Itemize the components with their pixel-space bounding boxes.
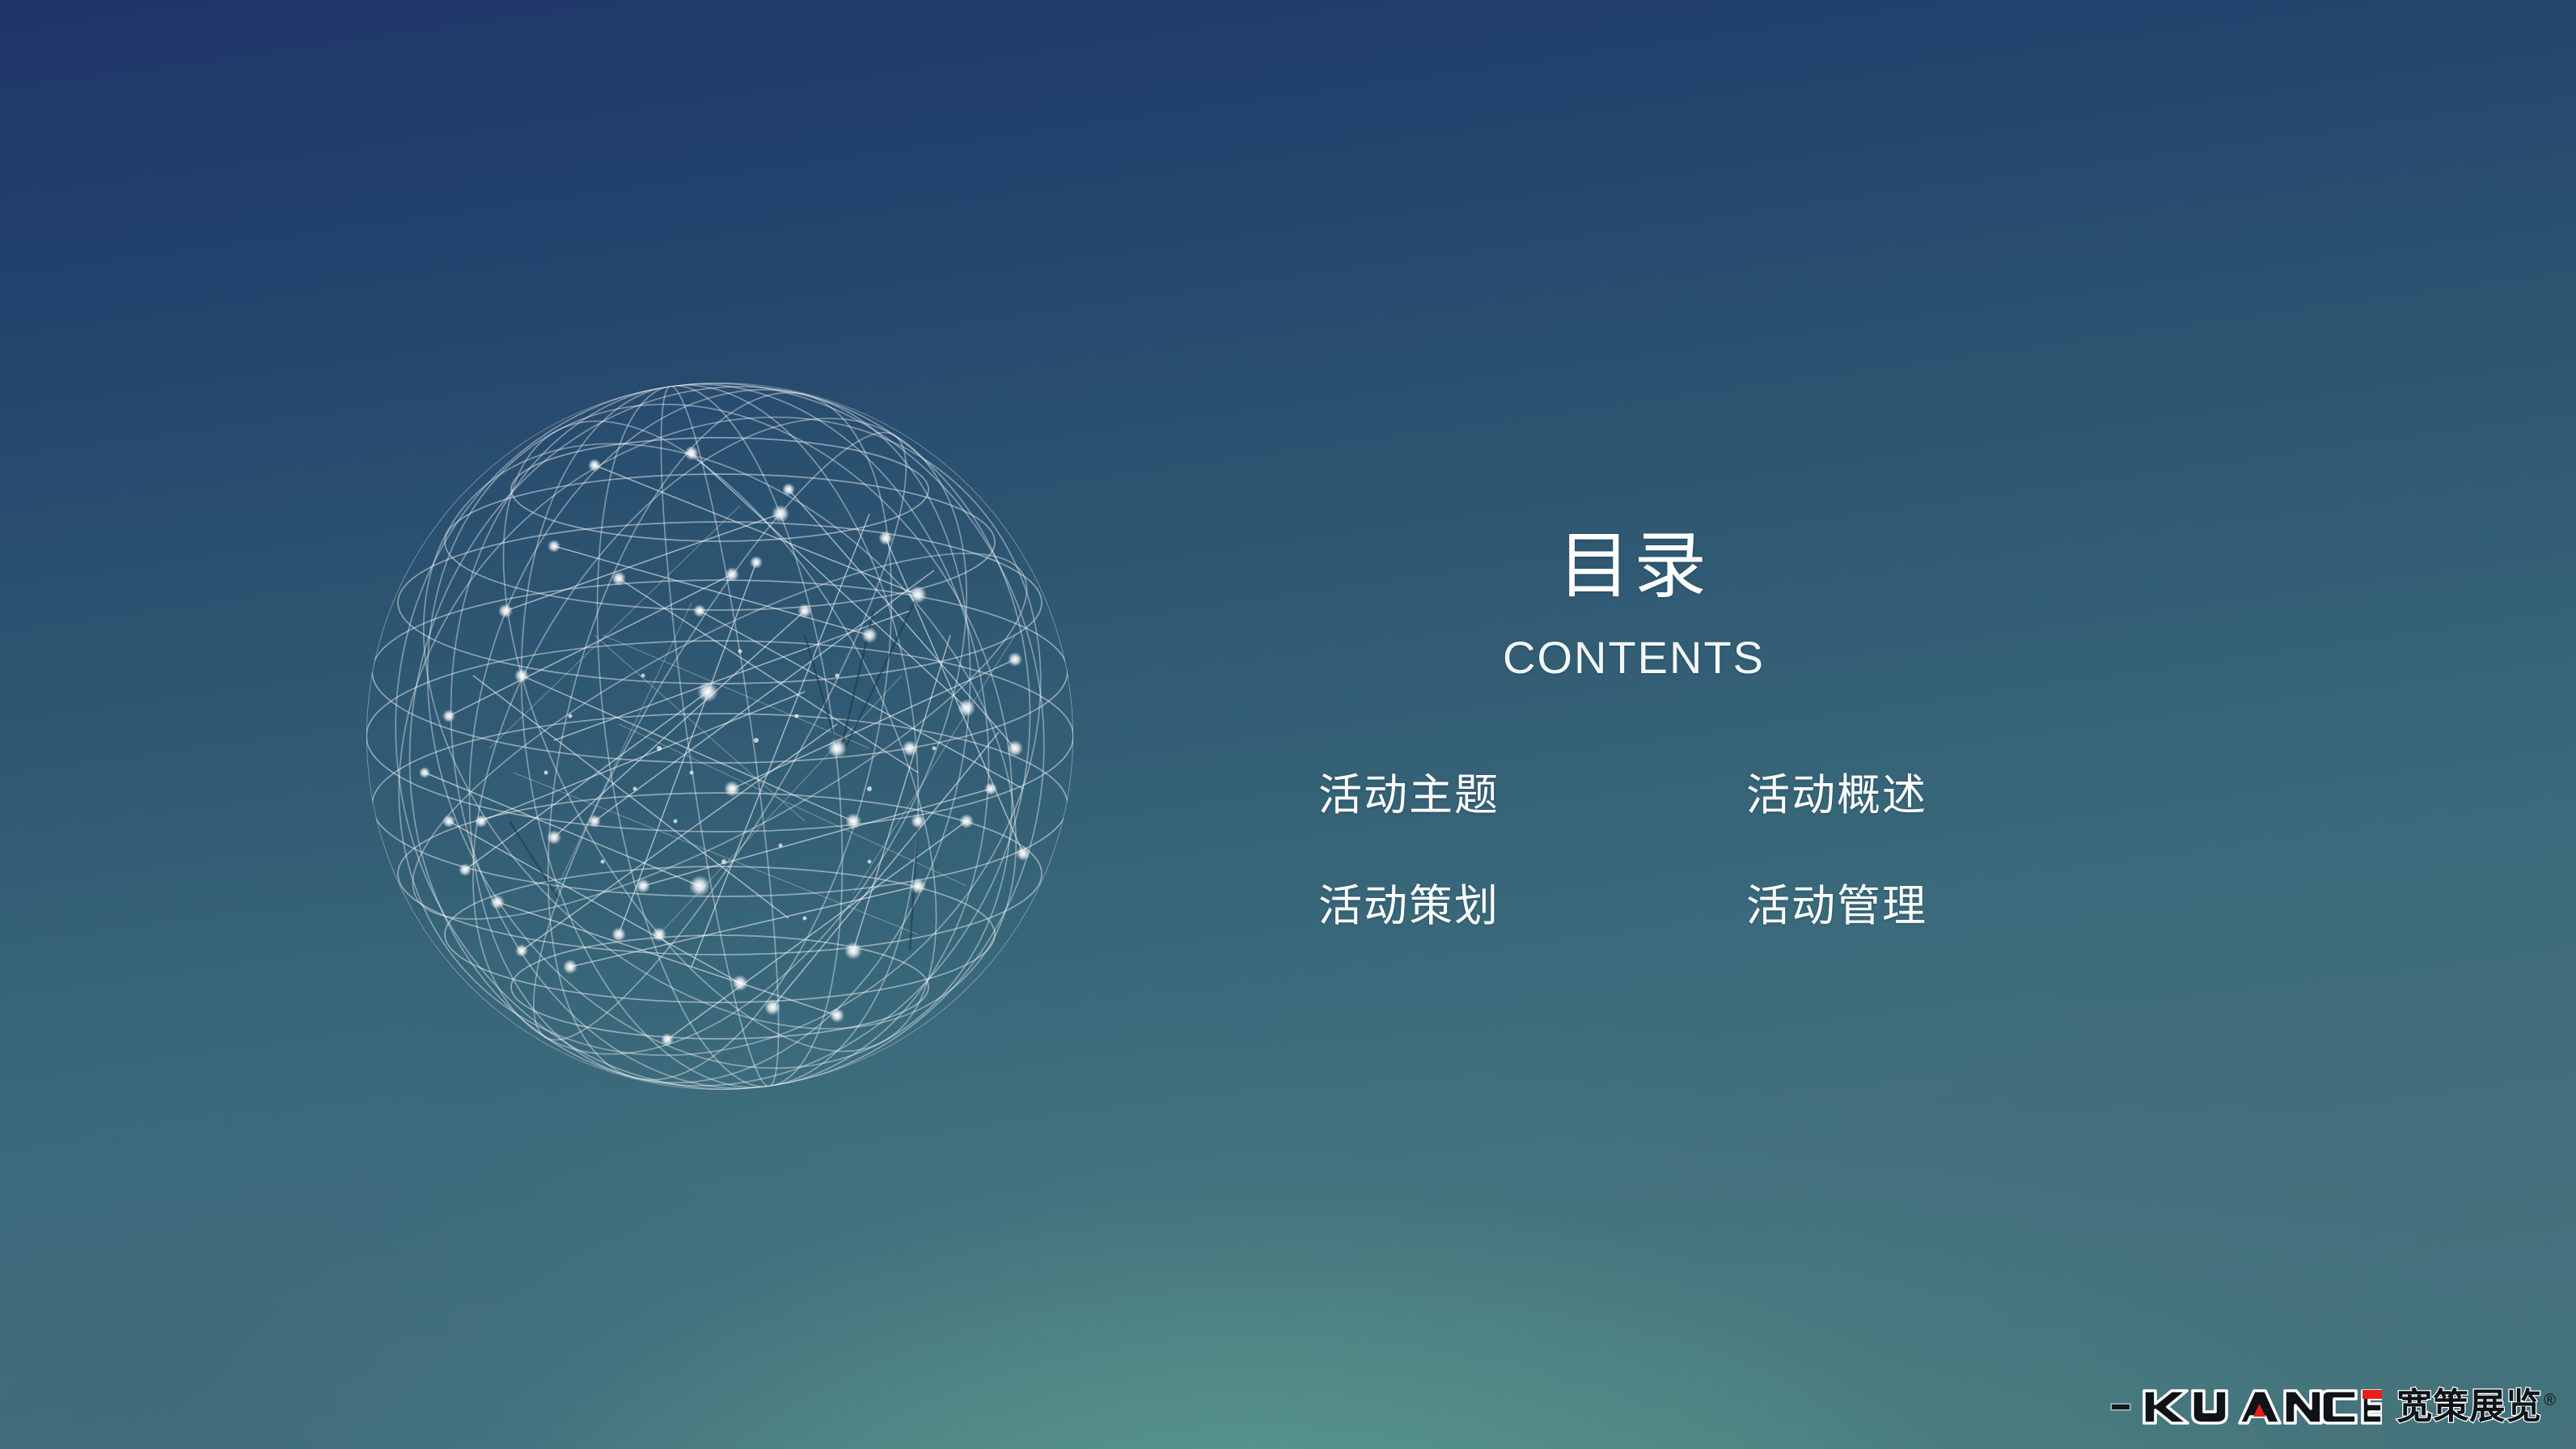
registered-trademark-icon: ® xyxy=(2544,1392,2557,1409)
page-subtitle: CONTENTS xyxy=(1262,635,2006,680)
toc-row: 活动主题 活动概述 xyxy=(1262,773,2006,819)
toc-item-activity-management[interactable]: 活动管理 xyxy=(1746,883,1927,930)
toc-row: 活动策划 活动管理 xyxy=(1262,883,2006,930)
toc-item-activity-overview[interactable]: 活动概述 xyxy=(1746,773,1927,819)
page-title: 目录 xyxy=(1262,530,2006,603)
logo-dash-icon xyxy=(2112,1405,2130,1409)
brand-logo: 宽策展览® xyxy=(2112,1381,2557,1433)
toc-item-activity-planning[interactable]: 活动策划 xyxy=(1318,883,1530,930)
slide-canvas: 目录 CONTENTS 活动主题 活动概述 活动策划 活动管理 xyxy=(0,0,2576,1449)
toc-item-grid: 活动主题 活动概述 活动策划 活动管理 xyxy=(1262,773,2006,929)
toc-item-activity-theme[interactable]: 活动主题 xyxy=(1318,773,1530,819)
logo-chinese-label: 宽策展览 xyxy=(2396,1387,2542,1426)
logo-chinese-text: 宽策展览® xyxy=(2396,1389,2557,1425)
kuance-wordmark-icon xyxy=(2139,1386,2382,1428)
table-of-contents: 目录 CONTENTS 活动主题 活动概述 活动策划 活动管理 xyxy=(1262,485,2006,1011)
network-globe-graphic xyxy=(352,368,1088,1104)
